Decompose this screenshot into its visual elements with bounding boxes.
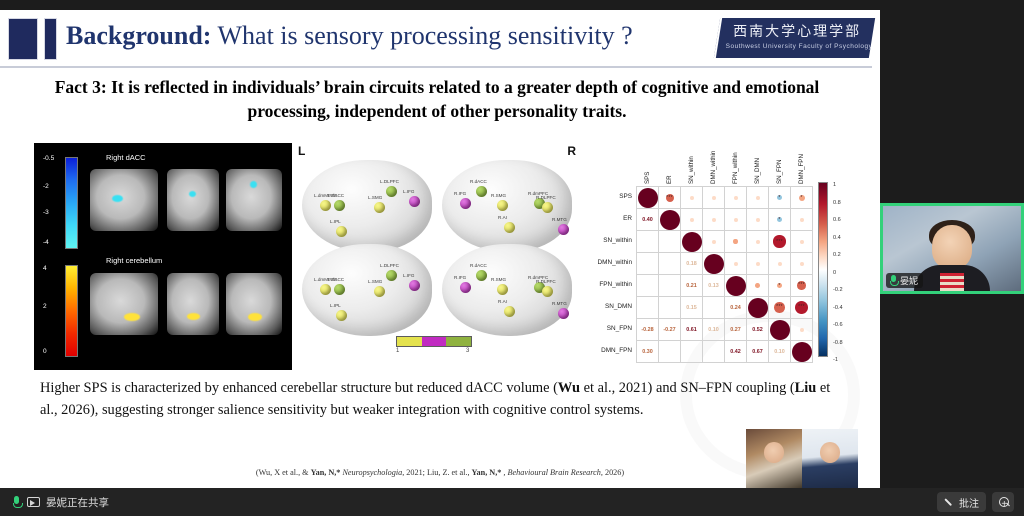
left-lateral-node-l-dacc: [334, 200, 345, 211]
matrix-cell-sn_within-sps: [637, 231, 659, 253]
colorbar-positive-tick-2: 0: [43, 348, 47, 355]
matrix-dot: [748, 298, 768, 318]
matrix-cell-sps-dmn_within: [703, 187, 725, 209]
correlation-matrix-panel: SPSERSN_withinDMN_withinFPN_withinSN_DMN…: [596, 140, 868, 372]
right-medial-node-label-1: R.dACC: [470, 263, 487, 268]
matrix-value: 0.67: [752, 349, 763, 355]
matrix-cell-sps-er: ***: [659, 187, 681, 209]
matrix-cell-fpn_within-sn_within: 0.21: [681, 275, 703, 297]
status-microphone-icon[interactable]: [12, 496, 21, 509]
matrix-cell-sn_within-dmn_fpn: [791, 231, 813, 253]
matrix-row-label-sn_dmn: SN_DMN: [596, 296, 636, 318]
matrix-cell-sn_fpn-sps: -0.28: [637, 319, 659, 341]
matrix-value: 0.27: [730, 327, 741, 333]
network-module-legend: [396, 336, 472, 347]
matrix-cell-sn_dmn-sn_dmn: [747, 297, 769, 319]
matrix-cell-sn_dmn-sn_fpn: ***: [769, 297, 791, 319]
matrix-dot: [733, 239, 737, 243]
matrix-colorbar-tick-5: 0: [833, 270, 836, 276]
status-bar-right-group: 批注 +: [937, 492, 1024, 512]
matrix-colorbar-tick-10: -1: [833, 357, 838, 363]
matrix-cell-er-sn_dmn: [747, 209, 769, 231]
matrix-cell-sn_dmn-sps: [637, 297, 659, 319]
matrix-dot: [712, 240, 716, 244]
brain-slice-coronal-cerebellum: [167, 273, 219, 335]
matrix-dot: *: [777, 283, 782, 288]
matrix-cell-sn_within-fpn_within: [725, 231, 747, 253]
slide-body-text: Higher SPS is characterized by enhanced …: [40, 378, 840, 422]
matrix-cell-er-dmn_within: [703, 209, 725, 231]
matrix-value: -0.28: [641, 327, 653, 333]
matrix-cell-sps-dmn_fpn: *: [791, 187, 813, 209]
right-medial-node-r-dacc: [476, 270, 487, 281]
citation-journal-2: , Behavioural Brain Research: [501, 468, 601, 477]
matrix-dot: [756, 240, 760, 244]
left-medial-node-label-1: L.dACC: [328, 277, 344, 282]
matrix-colorbar-ticks: 10.80.60.40.20-0.2-0.4-0.6-0.8-1: [830, 176, 860, 363]
matrix-dot: [734, 196, 738, 200]
matrix-cell-dmn_fpn-er: [659, 341, 681, 363]
matrix-cell-er-er: [659, 209, 681, 231]
matrix-cell-dmn_fpn-sps: 0.30: [637, 341, 659, 363]
left-lateral-node-l-ipl: [336, 226, 347, 237]
matrix-cell-sps-fpn_within: [725, 187, 747, 209]
panel-a-caption-cerebellum: Right cerebellum: [106, 256, 162, 265]
matrix-cell-fpn_within-dmn_within: 0.13: [703, 275, 725, 297]
matrix-colorbar-tick-0: 1: [833, 182, 836, 188]
matrix-colorbar-tick-1: 0.8: [833, 200, 841, 206]
right-lateral-node-label-2: R.SMG: [491, 193, 506, 198]
matrix-colorbar-tick-6: -0.2: [833, 287, 843, 293]
annotate-button-label: 批注: [959, 495, 979, 510]
slide-title-bold: Background:: [66, 21, 211, 50]
module-legend-tick-max: 3: [466, 348, 469, 354]
matrix-cell-sn_within-sn_fpn: ***: [769, 231, 791, 253]
right-lateral-node-r-ifg: [460, 198, 471, 209]
right-lateral-node-label-0: R.IFG: [454, 191, 466, 196]
magnifier-plus-icon: +: [999, 497, 1007, 508]
matrix-dot: [638, 188, 658, 208]
matrix-colorbar-tick-7: -0.4: [833, 305, 843, 311]
citation-author-1: Yan, N,*: [311, 468, 341, 477]
matrix-dot: [800, 240, 804, 244]
matrix-dot: *: [799, 195, 805, 201]
matrix-col-label-dmn_fpn: DMN_FPN: [798, 154, 805, 184]
left-medial-node-l-smg: [374, 286, 385, 297]
matrix-cell-sn_within-sn_dmn: [747, 231, 769, 253]
matrix-dot: [800, 218, 804, 222]
matrix-value: 0.42: [730, 349, 741, 355]
left-lateral-node-label-1: L.dACC: [328, 193, 344, 198]
matrix-colorbar-tick-2: 0.6: [833, 217, 841, 223]
right-lateral-node-label-5: R.DLPFC: [536, 195, 556, 200]
matrix-cell-sn_within-sn_within: [681, 231, 703, 253]
matrix-dot: *: [777, 195, 783, 201]
matrix-row-label-sps: SPS: [596, 186, 636, 208]
header-accent-block-large: [8, 18, 38, 60]
matrix-cell-dmn_within-sn_within: 0.18: [681, 253, 703, 275]
matrix-row-label-dmn_within: DMN_within: [596, 252, 636, 274]
matrix-col-label-sps: SPS: [644, 172, 651, 184]
matrix-cell-sn_dmn-fpn_within: 0.24: [725, 297, 747, 319]
right-lateral-node-label-6: R.MTG: [552, 217, 567, 222]
slide-citation: (Wu, X et al., & Yan, N,* Neuropsycholog…: [40, 468, 840, 477]
matrix-cell-dmn_fpn-dmn_fpn: [791, 341, 813, 363]
left-medial-node-l-dmmpfc: [320, 284, 331, 295]
brain-network-render-panel: L R 1 3 L.dmMPFCL.dACCL.IPLL.SMGL.DLPFCL…: [296, 140, 578, 370]
matrix-cell-sn_fpn-sn_fpn: [769, 319, 791, 341]
left-medial-node-l-ipl: [336, 310, 347, 321]
hemisphere-label-right: R: [567, 144, 576, 158]
status-bar-left-group: 晏妮正在共享: [0, 495, 109, 510]
brain-slice-axial-cerebellum: [226, 273, 282, 335]
right-medial-node-r-ifg: [460, 282, 471, 293]
colorbar-positive-tick-1: 2: [43, 303, 47, 310]
colorbar-negative-tick-2: -3: [43, 209, 49, 216]
matrix-grid[interactable]: *****0.40****0.180.210.13****0.150.24***…: [636, 186, 813, 363]
matrix-dot: [712, 218, 716, 222]
matrix-value: 0.30: [642, 349, 653, 355]
pen-icon: [944, 497, 955, 508]
video-rail: 晏妮: [880, 10, 1024, 488]
header-accent-block-small: [44, 18, 57, 60]
citation-part-b: , 2021; Liu, Z. et al.,: [402, 468, 471, 477]
left-medial-node-l-dacc: [334, 284, 345, 295]
colorbar-positive: [65, 265, 78, 357]
matrix-dot: [800, 328, 804, 332]
matrix-dot: [726, 276, 746, 296]
matrix-value: 0.13: [708, 283, 719, 289]
matrix-cell-er-dmn_fpn: [791, 209, 813, 231]
logo-english-text: Southwest University Faculty of Psycholo…: [726, 43, 869, 50]
matrix-value: 0.21: [686, 283, 697, 289]
matrix-cell-sn_within-er: [659, 231, 681, 253]
matrix-cell-fpn_within-er: [659, 275, 681, 297]
right-medial-node-label-0: R.IFG: [454, 275, 466, 280]
left-medial-node-l-dlpfc: [386, 270, 397, 281]
matrix-cell-fpn_within-sn_fpn: *: [769, 275, 791, 297]
matrix-cell-sn_fpn-dmn_fpn: [791, 319, 813, 341]
matrix-cell-er-fpn_within: [725, 209, 747, 231]
right-lateral-node-r-dacc: [476, 186, 487, 197]
author-photos: [746, 429, 858, 488]
right-lateral-node-r-ai: [504, 222, 515, 233]
header-divider: [0, 66, 872, 68]
citation-author-2: Yan, N,*: [472, 468, 502, 477]
matrix-value: 0.40: [642, 217, 653, 223]
left-lateral-node-l-dmmpfc: [320, 200, 331, 211]
matrix-cell-dmn_within-fpn_within: [725, 253, 747, 275]
slide-title: Background: What is sensory processing s…: [66, 21, 633, 51]
matrix-row-label-sn_within: SN_within: [596, 230, 636, 252]
matrix-colorbar-tick-4: 0.2: [833, 252, 841, 258]
matrix-cell-dmn_fpn-sn_fpn: 0.10: [769, 341, 791, 363]
matrix-cell-sn_dmn-er: [659, 297, 681, 319]
matrix-cell-sps-sps: [637, 187, 659, 209]
left-lateral-node-label-2: L.IPL: [330, 219, 341, 224]
shared-screen-region[interactable]: Background: What is sensory processing s…: [0, 10, 880, 488]
matrix-cell-sn_fpn-dmn_within: 0.10: [703, 319, 725, 341]
zoom-meeting-window: Background: What is sensory processing s…: [0, 0, 1024, 516]
matrix-cell-dmn_fpn-sn_dmn: 0.67: [747, 341, 769, 363]
matrix-dot: [704, 254, 724, 274]
matrix-dot: ***: [795, 301, 808, 314]
matrix-cell-sn_fpn-sn_within: 0.61: [681, 319, 703, 341]
matrix-dot: [792, 342, 812, 362]
right-lateral-node-r-smg: [497, 200, 508, 211]
left-lateral-node-l-smg: [374, 202, 385, 213]
matrix-colorbar-tick-8: -0.6: [833, 322, 843, 328]
right-medial-node-label-2: R.SMG: [491, 277, 506, 282]
colorbar-positive-tick-0: 4: [43, 265, 47, 272]
sharing-status-text: 晏妮正在共享: [46, 495, 109, 510]
matrix-dot: [756, 218, 760, 222]
left-medial-node-l-ifg: [409, 280, 420, 291]
matrix-cell-sn_fpn-sn_dmn: 0.52: [747, 319, 769, 341]
left-lateral-node-l-ifg: [409, 196, 420, 207]
matrix-cell-dmn_fpn-dmn_within: [703, 341, 725, 363]
colorbar-negative-tick-1: -2: [43, 183, 49, 190]
left-lateral-node-l-dlpfc: [386, 186, 397, 197]
matrix-row-label-er: ER: [596, 208, 636, 230]
matrix-cell-sn_dmn-dmn_fpn: ***: [791, 297, 813, 319]
left-medial-node-label-5: L.IFG: [403, 273, 415, 278]
matrix-cell-sps-sn_dmn: [747, 187, 769, 209]
matrix-value: 0.61: [686, 327, 697, 333]
logo-chinese-text: 西南大学心理学部: [726, 21, 869, 41]
body-citation-wu: Wu: [558, 380, 580, 396]
citation-part-c: , 2026): [601, 468, 624, 477]
matrix-col-label-fpn_within: FPN_within: [732, 152, 739, 184]
matrix-cell-fpn_within-fpn_within: [725, 275, 747, 297]
matrix-value: 0.10: [774, 349, 785, 355]
right-lateral-node-r-dlpfc: [542, 202, 553, 213]
slide-title-rest: What is sensory processing sensitivity ?: [211, 21, 632, 50]
zoom-in-button[interactable]: +: [992, 492, 1014, 512]
right-lateral-node-label-3: R.AI: [498, 215, 507, 220]
matrix-dot: ***: [773, 235, 785, 247]
matrix-cell-sn_fpn-er: -0.27: [659, 319, 681, 341]
matrix-col-label-er: ER: [666, 175, 673, 184]
matrix-dot: [734, 218, 738, 222]
author-photo-formal: [802, 429, 858, 488]
right-medial-node-r-mtg: [558, 308, 569, 319]
meeting-status-bar: 晏妮正在共享 批注 +: [0, 488, 1024, 516]
matrix-cell-dmn_within-sps: [637, 253, 659, 275]
right-medial-node-label-6: R.MTG: [552, 301, 567, 306]
matrix-dot: [755, 283, 760, 288]
matrix-cell-fpn_within-dmn_fpn: ***: [791, 275, 813, 297]
matrix-dot: [778, 262, 782, 266]
colorbar-negative-tick-0: -0.5: [43, 155, 54, 162]
figure-row: -0.5 -2 -3 -4 4 2 0 Right dACC Right cer…: [0, 140, 872, 372]
brain-slice-axial-dacc: [226, 169, 282, 231]
matrix-dot: ***: [797, 281, 805, 289]
matrix-value: -0.27: [663, 327, 675, 333]
matrix-cell-dmn_fpn-sn_within: [681, 341, 703, 363]
presentation-slide: Background: What is sensory processing s…: [0, 10, 880, 488]
right-medial-node-label-5: R.DLPFC: [536, 279, 556, 284]
slide-header: Background: What is sensory processing s…: [0, 14, 872, 66]
matrix-cell-sn_fpn-fpn_within: 0.27: [725, 319, 747, 341]
matrix-cell-sps-sn_within: [681, 187, 703, 209]
matrix-value: 0.24: [730, 305, 741, 311]
matrix-dot: [800, 262, 804, 266]
matrix-cell-dmn_within-dmn_within: [703, 253, 725, 275]
matrix-col-label-sn_within: SN_within: [688, 156, 695, 184]
participant-face: [932, 225, 972, 269]
matrix-dot: [756, 196, 760, 200]
matrix-col-label-sn_fpn: SN_FPN: [776, 160, 783, 184]
panel-a-caption-dacc: Right dACC: [106, 153, 146, 162]
module-legend-tick-min: 1: [396, 348, 399, 354]
matrix-row-label-sn_fpn: SN_FPN: [596, 318, 636, 340]
author-photo-casual: [746, 429, 802, 488]
annotate-button[interactable]: 批注: [937, 492, 986, 512]
hemisphere-label-left: L: [298, 144, 305, 158]
right-lateral-node-r-mtg: [558, 224, 569, 235]
matrix-cell-sps-sn_fpn: *: [769, 187, 791, 209]
body-text-a: Higher SPS is characterized by enhanced …: [40, 380, 558, 396]
matrix-value: 0.15: [686, 305, 697, 311]
matrix-cell-er-sn_fpn: *: [769, 209, 791, 231]
matrix-value: 0.10: [708, 327, 719, 333]
matrix-cell-sn_dmn-dmn_within: [703, 297, 725, 319]
matrix-col-label-sn_dmn: SN_DMN: [754, 158, 761, 184]
matrix-dot: [682, 232, 702, 252]
left-lateral-node-label-5: L.IFG: [403, 189, 415, 194]
participant-name-label: 晏妮: [900, 274, 918, 287]
matrix-cell-dmn_within-er: [659, 253, 681, 275]
participant-name-badge: 晏妮: [886, 273, 923, 288]
matrix-cell-dmn_fpn-fpn_within: 0.42: [725, 341, 747, 363]
left-medial-node-label-3: L.SMG: [368, 279, 382, 284]
body-citation-liu: Liu: [795, 380, 817, 396]
fact-statement: Fact 3: It is reflected in individuals’ …: [18, 76, 856, 123]
matrix-colorbar-tick-3: 0.4: [833, 235, 841, 241]
matrix-cell-er-sn_within: [681, 209, 703, 231]
matrix-cell-sn_within-dmn_within: [703, 231, 725, 253]
right-medial-node-r-ai: [504, 306, 515, 317]
matrix-dot: [712, 196, 716, 200]
left-medial-node-label-2: L.IPL: [330, 303, 341, 308]
citation-part-a: (Wu, X et al., &: [256, 468, 311, 477]
right-medial-node-r-smg: [497, 284, 508, 295]
matrix-cell-fpn_within-sps: [637, 275, 659, 297]
left-medial-node-label-4: L.DLPFC: [380, 263, 399, 268]
matrix-cell-dmn_within-sn_fpn: [769, 253, 791, 275]
matrix-dot: [734, 262, 738, 266]
matrix-col-label-dmn_within: DMN_within: [710, 151, 717, 184]
matrix-colorbar: [818, 182, 828, 357]
left-lateral-node-label-4: L.DLPFC: [380, 179, 399, 184]
matrix-row-label-dmn_fpn: DMN_FPN: [596, 340, 636, 362]
matrix-value: 0.52: [752, 327, 763, 333]
matrix-dot: [756, 262, 760, 266]
matrix-cell-fpn_within-sn_dmn: [747, 275, 769, 297]
brain-slice-sagittal-cerebellum: [90, 273, 158, 335]
matrix-dot: [690, 218, 694, 222]
matrix-dot: [690, 196, 694, 200]
microphone-icon: [889, 275, 897, 286]
body-text-b: et al., 2021) and SN–FPN coupling (: [580, 380, 795, 396]
screen-share-icon: [27, 497, 40, 507]
matrix-dot: ***: [774, 302, 784, 312]
matrix-cell-dmn_within-dmn_fpn: [791, 253, 813, 275]
brain-statistical-map-panel: -0.5 -2 -3 -4 4 2 0 Right dACC Right cer…: [34, 143, 292, 370]
right-medial-node-r-dlpfc: [542, 286, 553, 297]
matrix-colorbar-tick-9: -0.8: [833, 340, 843, 346]
matrix-dot: [770, 320, 790, 340]
matrix-row-label-fpn_within: FPN_within: [596, 274, 636, 296]
matrix-cell-dmn_within-sn_dmn: [747, 253, 769, 275]
matrix-dot: [660, 210, 680, 230]
matrix-dot: ***: [666, 194, 674, 202]
matrix-value: 0.18: [686, 261, 697, 267]
university-logo: 西南大学心理学部 Southwest University Faculty of…: [714, 18, 875, 58]
matrix-dot: *: [777, 217, 782, 222]
participant-shirt: [940, 273, 964, 293]
matrix-cell-er-sps: 0.40: [637, 209, 659, 231]
citation-journal-1: Neuropsychologia: [340, 468, 402, 477]
colorbar-negative-tick-3: -4: [43, 239, 49, 246]
matrix-column-labels: SPSERSN_withinDMN_withinFPN_withinSN_DMN…: [596, 140, 868, 186]
matrix-cell-sn_dmn-sn_within: 0.15: [681, 297, 703, 319]
brain-slice-coronal-dacc: [167, 169, 219, 231]
participant-video-tile[interactable]: 晏妮: [880, 203, 1024, 294]
matrix-row-labels: SPSERSN_withinDMN_withinFPN_withinSN_DMN…: [596, 186, 636, 362]
brain-slice-sagittal-dacc: [90, 169, 158, 231]
colorbar-negative: [65, 157, 78, 249]
left-lateral-node-label-3: L.SMG: [368, 195, 382, 200]
right-medial-node-label-3: R.AI: [498, 299, 507, 304]
right-lateral-node-label-1: R.dACC: [470, 179, 487, 184]
